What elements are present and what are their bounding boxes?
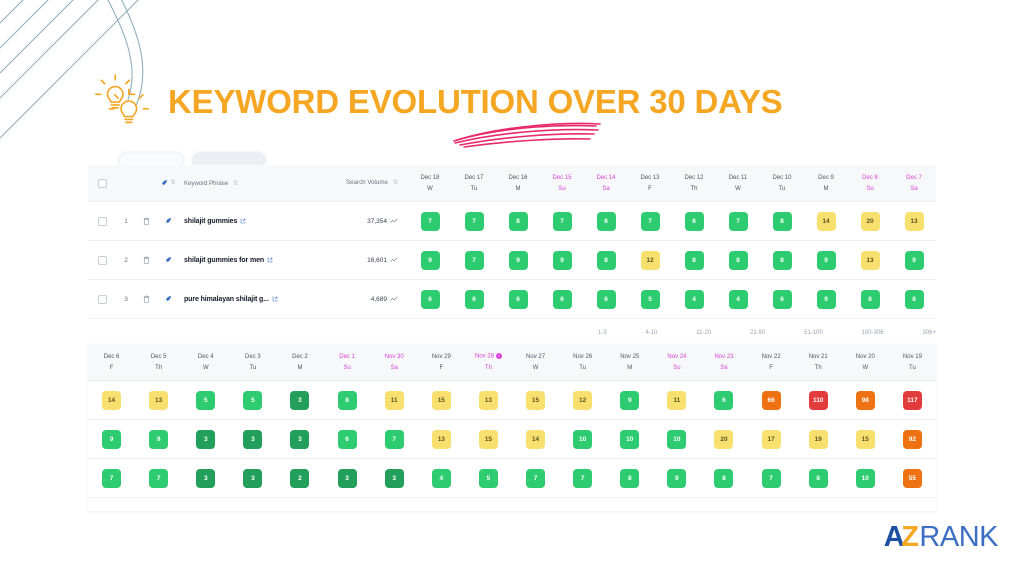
rank-value-badge: 7 [421,212,440,231]
heatmap-cell[interactable]: 8 [848,290,892,309]
rank-value-badge: 8 [509,212,528,231]
rank-value-badge: 10 [573,430,592,449]
trend-chart-icon[interactable] [390,296,398,302]
heatmap-cell[interactable]: 3 [229,430,276,449]
heatmap-cell[interactable]: 14 [88,391,135,410]
date-label: Dec 14 [596,175,615,181]
heatmap-cell[interactable]: 8 [700,469,747,488]
rank-value-badge: 13 [149,391,168,410]
table-row[interactable]: 3 pure himalayan shilajit g... 4,689 [88,280,408,319]
date-label: Dec 13 [640,175,659,181]
date-column-header: Nov 20W [842,344,889,380]
heatmap-cell[interactable]: 6 [324,430,371,449]
heatmap-cell[interactable]: 3 [229,469,276,488]
rank-value-badge: 12 [641,251,660,270]
heatmap-row: 77332334577898781055 [88,459,936,498]
rank-value-badge: 9 [149,430,168,449]
rank-value-badge: 9 [620,391,639,410]
row-number: 2 [116,257,136,264]
rank-value-badge: 4 [729,290,748,309]
date-column-header: Dec 3Tu [229,344,276,380]
rank-value-badge: 3 [243,430,262,449]
heatmap-cell[interactable]: 6 [452,290,496,309]
heatmap-cell[interactable]: 7 [135,469,182,488]
rank-value-badge: 11 [385,391,404,410]
date-column-header: Dec 17Tu [452,165,496,201]
day-of-week-label: F [648,186,652,192]
heatmap-cell[interactable]: 8 [324,391,371,410]
phrase-sort-icon[interactable]: ⇅ [233,180,238,187]
date-column-header: Dec 6F [88,344,135,380]
day-of-week-label: M [516,186,521,192]
rank-value-badge: 7 [385,430,404,449]
boost-icon[interactable] [156,256,180,264]
rank-value-badge: 9 [553,251,572,270]
heatmap-cell[interactable]: 3 [324,469,371,488]
heatmap-cell[interactable]: 13 [892,212,936,231]
heatmap-cell[interactable]: 5 [465,469,512,488]
rank-value-badge: 14 [526,430,545,449]
legend-item: 4-10 [645,330,657,336]
heatmap-cell[interactable]: 8 [760,212,804,231]
heatmap-cell[interactable]: 15 [842,430,889,449]
heatmap-cell[interactable]: 6 [540,290,584,309]
rank-value-badge: 10 [667,430,686,449]
date-column-header: Dec 12Th [672,165,716,201]
rank-value-badge: 9 [817,251,836,270]
rank-value-badge: 9 [817,290,836,309]
row-number: 1 [116,218,136,225]
heatmap-cell[interactable]: 11 [371,391,418,410]
day-of-week-label: Su [343,365,350,371]
rank-value-badge: 4 [432,469,451,488]
rank-value-badge: 110 [809,391,828,410]
lightbulb-icon [92,72,154,134]
day-of-week-label: Th [155,365,162,371]
rank-value-badge: 10 [856,469,875,488]
search-volume-cell: 37,354 [326,218,408,225]
heatmap-cell[interactable]: 8 [672,251,716,270]
heatmap-cell[interactable]: 9 [892,251,936,270]
day-of-week-label: Th [815,365,822,371]
keyword-phrase-text: pure himalayan shilajit g... [184,296,269,303]
search-volume-value: 4,689 [371,296,387,303]
rank-value-badge: 17 [762,430,781,449]
rank-value-badge: 15 [479,430,498,449]
heatmap-cell[interactable]: 9 [135,430,182,449]
rank-value-badge: 3 [290,391,309,410]
day-of-week-label: Su [673,365,680,371]
keyword-phrase-cell[interactable]: pure himalayan shilajit g... [180,296,326,303]
heatmap-cell[interactable]: 19 [795,430,842,449]
day-of-week-label: M [297,365,302,371]
date-column-header: Dec 9M [804,165,848,201]
day-of-week-label: Sa [910,186,917,192]
boost-icon[interactable] [156,295,180,303]
rank-value-badge: 9 [667,469,686,488]
trend-chart-icon[interactable] [390,257,398,263]
heatmap-cell[interactable]: 4 [418,469,465,488]
rank-value-badge: 3 [338,469,357,488]
day-of-week-label: Sa [720,365,727,371]
rank-value-badge: 7 [729,212,748,231]
rank-value-badge: 6 [509,290,528,309]
heatmap-cell[interactable]: 10 [842,469,889,488]
date-label: Nov 30 [385,354,404,360]
day-of-week-label: M [824,186,829,192]
rank-value-badge: 8 [620,469,639,488]
external-link-icon[interactable] [272,296,278,302]
row-checkbox[interactable] [88,256,116,265]
date-label: Nov 22 [762,354,781,360]
rank-value-badge: 7 [465,212,484,231]
title-block: KEYWORD EVOLUTION OVER 30 DAYS [92,68,782,134]
rank-value-badge: 3 [243,469,262,488]
heatmap-cell[interactable]: 13 [848,251,892,270]
rank-value-badge: 15 [432,391,451,410]
heatmap-cell[interactable]: 8 [496,212,540,231]
heatmap-row: 14135538111513151291166611098117 [88,381,936,420]
rank-value-badge: 11 [667,391,686,410]
date-label: Dec 9 [818,175,834,181]
heatmap-cell[interactable]: 6 [496,290,540,309]
heatmap-cell[interactable]: 13 [135,391,182,410]
heatmap-row: 97998128889139 [408,241,936,280]
heatmap-cell[interactable]: 11 [653,391,700,410]
rank-value-badge: 12 [573,391,592,410]
heatmap-cell[interactable]: 17 [748,430,795,449]
heatmap-row: 99333671315141010102017191592 [88,420,936,459]
heatmap-cell[interactable]: 12 [559,391,606,410]
heatmap-cell[interactable]: 14 [512,430,559,449]
heatmap-cell[interactable]: 9 [540,251,584,270]
heatmap-cell[interactable]: 13 [418,430,465,449]
date-label: Dec 5 [151,354,167,360]
date-label: Dec 8 [862,175,878,181]
date-column-header: Dec 1Su [324,344,371,380]
date-label: Dec 7 [906,175,922,181]
heatmap-cell[interactable]: 7 [371,430,418,449]
date-header-row: Dec 18WDec 17TuDec 16MDec 15SuDec 14SaDe… [408,165,936,202]
table-row[interactable]: 1 shilajit gummies 37,354 [88,202,408,241]
rank-value-badge: 13 [861,251,880,270]
date-label: Nov 23 [714,354,733,360]
day-of-week-label: W [735,186,741,192]
legend-item: 1-3 [598,330,607,336]
heatmap-cell[interactable]: 20 [848,212,892,231]
date-column-header: Nov 24Su [653,344,700,380]
rank-value-badge: 13 [905,212,924,231]
rank-value-badge: 9 [102,430,121,449]
rank-value-badge: 10 [620,430,639,449]
heatmap-cell[interactable]: 6 [700,391,747,410]
heatmap-cell[interactable]: 6 [408,290,452,309]
date-label: Dec 2 [292,354,308,360]
day-of-week-label: Th [690,186,697,192]
delete-icon[interactable] [136,256,156,264]
date-column-header: Dec 16M [496,165,540,201]
search-volume-cell: 16,601 [326,257,408,264]
date-label: Nov 25 [620,354,639,360]
date-label: Dec 15 [552,175,571,181]
heatmap-cell[interactable]: 8 [606,469,653,488]
rank-value-badge: 8 [861,290,880,309]
day-of-week-label: W [203,365,209,371]
search-volume-cell: 4,689 [326,296,408,303]
heatmap-cell[interactable]: 8 [716,251,760,270]
rank-value-badge: 13 [432,430,451,449]
day-of-week-label: W [862,365,868,371]
rank-value-badge: 6 [714,391,733,410]
rocket-icon [160,179,168,187]
rank-tracker-bottom-panel: Dec 6FDec 5ThDec 4WDec 3TuDec 2MDec 1SuN… [88,344,936,511]
rank-value-badge: 6 [597,212,616,231]
heatmap-cell[interactable]: 7 [512,469,559,488]
date-column-header: Dec 8Su [848,165,892,201]
rocket-column-header: ⇅ [156,179,180,187]
date-column-header: Nov 19Tu [889,344,936,380]
trend-chart-icon[interactable] [390,218,398,224]
heatmap-cell[interactable]: 8 [795,469,842,488]
rocket-sort-icon[interactable]: ⇅ [170,179,175,187]
heatmap-cell[interactable]: 7 [559,469,606,488]
heatmap-cell[interactable]: 98 [842,391,889,410]
heatmap-cell[interactable]: 9 [88,430,135,449]
rank-value-badge: 2 [290,469,309,488]
row-number: 3 [116,296,136,303]
rank-value-badge: 14 [817,212,836,231]
date-column-header: Nov 27W [512,344,559,380]
rank-value-badge: 3 [196,430,215,449]
rank-value-badge: 8 [729,251,748,270]
legend-item: 11-20 [696,330,711,336]
rank-value-badge: 7 [526,469,545,488]
date-label: Nov 27 [526,354,545,360]
search-volume-value: 37,354 [367,218,387,225]
heatmap-cell[interactable]: 4 [672,290,716,309]
heatmap-cell[interactable]: 7 [748,469,795,488]
logo-letter-z: Z [901,521,918,554]
rank-value-badge: 6 [465,290,484,309]
day-of-week-label: F [769,365,773,371]
heatmap-cell[interactable]: 7 [88,469,135,488]
rank-value-badge: 14 [102,391,121,410]
heatmap-cell[interactable]: 15 [465,430,512,449]
rank-value-badge: 66 [762,391,781,410]
azrank-logo: AZRANK [884,521,998,554]
heatmap-cell[interactable]: 3 [182,469,229,488]
keyword-phrase-cell[interactable]: shilajit gummies for men [180,257,326,264]
heatmap-cell[interactable]: 7 [452,212,496,231]
rank-value-badge: 5 [196,391,215,410]
heatmap-cell[interactable]: 55 [889,469,936,488]
heatmap-cell[interactable]: 8 [584,251,628,270]
volume-sort-icon[interactable]: ⇅ [393,179,398,187]
rank-value-badge: 8 [809,469,828,488]
heatmap-cell[interactable]: 9 [496,251,540,270]
heatmap-cell[interactable]: 14 [804,212,848,231]
date-label: Nov 21 [809,354,828,360]
heatmap-cell[interactable]: 13 [465,391,512,410]
heatmap-cell[interactable]: 2 [276,469,323,488]
rank-value-badge: 15 [526,391,545,410]
heatmap-cell[interactable]: 5 [229,391,276,410]
day-of-week-label: Tu [579,365,586,371]
slide-canvas: KEYWORD EVOLUTION OVER 30 DAYS [0,0,1024,576]
delete-icon[interactable] [136,217,156,225]
external-link-icon[interactable] [267,257,273,263]
heatmap-cell[interactable]: 20 [700,430,747,449]
date-column-header: Dec 14Sa [584,165,628,201]
heatmap-cell[interactable]: 7 [628,212,672,231]
rank-value-badge: 98 [856,391,875,410]
date-column-header: Nov 21Th [795,344,842,380]
heatmap-cell[interactable]: 9 [606,391,653,410]
rank-value-badge: 8 [773,212,792,231]
day-of-week-label: Su [558,186,565,192]
delete-icon[interactable] [136,295,156,303]
heatmap-cell[interactable]: 110 [795,391,842,410]
date-column-header: Dec 2M [276,344,323,380]
rank-value-badge: 8 [714,469,733,488]
heatmap-cell[interactable]: 3 [276,430,323,449]
day-of-week-label: M [627,365,632,371]
heatmap-cell[interactable]: 9 [804,290,848,309]
rank-value-badge: 19 [809,430,828,449]
rank-value-badge: 6 [421,290,440,309]
heatmap-cell[interactable]: 117 [889,391,936,410]
date-column-header: Nov 29F [418,344,465,380]
date-column-header: Nov 30Sa [371,344,418,380]
rank-value-badge: 9 [509,251,528,270]
date-header-row: Dec 6FDec 5ThDec 4WDec 3TuDec 2MDec 1SuN… [88,344,936,381]
holiday-badge-icon[interactable]: ! [496,353,502,359]
legend-item: 100-306 [862,330,884,336]
date-column-header: Nov 22F [748,344,795,380]
legend-item: 306+ [922,330,936,336]
row-checkbox[interactable] [88,217,116,226]
heatmap-cell[interactable]: 8 [892,290,936,309]
date-label: Dec 3 [245,354,261,360]
rank-value-badge: 7 [553,212,572,231]
rank-value-badge: 3 [385,469,404,488]
day-of-week-label: Su [866,186,873,192]
heatmap-cell[interactable]: 15 [418,391,465,410]
search-volume-column-header[interactable]: Search Volume ⇅ [326,179,408,187]
rank-value-badge: 6 [338,430,357,449]
rank-value-badge: 7 [465,251,484,270]
heatmap-cell[interactable]: 7 [452,251,496,270]
rank-value-badge: 13 [479,391,498,410]
heatmap-cell[interactable]: 5 [628,290,672,309]
heatmap-cell[interactable]: 66 [748,391,795,410]
date-column-header: Nov 28!Th [465,344,512,380]
heatmap-cell[interactable]: 10 [653,430,700,449]
day-of-week-label: Sa [391,365,398,371]
rank-legend: 1-34-1011-2021-5051-100100-306306+ [598,330,936,336]
heatmap-cell[interactable]: 7 [540,212,584,231]
rank-heatmap-top: Dec 18WDec 17TuDec 16MDec 15SuDec 14SaDe… [408,165,936,319]
heatmap-cell[interactable]: 3 [182,430,229,449]
date-column-header: Nov 26Tu [559,344,606,380]
day-of-week-label: F [110,365,114,371]
page-title: KEYWORD EVOLUTION OVER 30 DAYS [168,85,782,118]
logo-text-rank: RANK [919,521,998,554]
rank-value-badge: 8 [597,251,616,270]
rank-value-badge: 8 [685,251,704,270]
date-label: Nov 26 [573,354,592,360]
rank-value-badge: 9 [905,251,924,270]
rank-value-badge: 3 [290,430,309,449]
heatmap-cell[interactable]: 9 [804,251,848,270]
keyword-table-header: ⇅ Keyword Phrase ⇅ Search Volume ⇅ [88,165,408,202]
heatmap-cell[interactable]: 3 [276,391,323,410]
heatmap-cell[interactable]: 9 [408,251,452,270]
day-of-week-label: Tu [471,186,478,192]
date-column-header: Nov 23Sa [700,344,747,380]
heatmap-cell[interactable]: 10 [606,430,653,449]
external-link-icon[interactable] [240,218,246,224]
heatmap-cell[interactable]: 9 [653,469,700,488]
heatmap-cell[interactable]: 3 [371,469,418,488]
date-label: Dec 11 [729,175,748,181]
heatmap-cell[interactable]: 4 [716,290,760,309]
rank-value-badge: 5 [243,391,262,410]
heatmap-cell[interactable]: 6 [584,212,628,231]
keyword-phrase-column-header[interactable]: Keyword Phrase ⇅ [180,180,326,187]
date-column-header: Dec 5Th [135,344,182,380]
heatmap-cell[interactable]: 7 [716,212,760,231]
heatmap-cell[interactable]: 6 [672,212,716,231]
rank-value-badge: 7 [102,469,121,488]
legend-item: 51-100 [804,330,823,336]
rank-value-badge: 8 [338,391,357,410]
heatmap-cell[interactable]: 15 [512,391,559,410]
keyword-table: ⇅ Keyword Phrase ⇅ Search Volume ⇅ 1 [88,165,409,319]
heatmap-cell[interactable]: 8 [760,251,804,270]
heatmap-cell[interactable]: 6 [584,290,628,309]
keyword-phrase-cell[interactable]: shilajit gummies [180,218,326,225]
rank-value-badge: 117 [903,391,922,410]
heatmap-cell[interactable]: 92 [889,430,936,449]
date-label: Dec 6 [104,354,120,360]
heatmap-cell[interactable]: 7 [408,212,452,231]
rank-value-badge: 5 [479,469,498,488]
boost-icon[interactable] [156,217,180,225]
day-of-week-label: Tu [249,365,256,371]
select-all-checkbox[interactable] [88,179,116,188]
heatmap-cell[interactable]: 6 [760,290,804,309]
rank-value-badge: 8 [773,251,792,270]
date-column-header: Dec 18W [408,165,452,201]
rank-value-badge: 6 [553,290,572,309]
day-of-week-label: F [439,365,443,371]
heatmap-cell[interactable]: 12 [628,251,672,270]
rank-tracker-top-panel: ⇅ Keyword Phrase ⇅ Search Volume ⇅ 1 [88,152,936,317]
rank-value-badge: 7 [573,469,592,488]
row-checkbox[interactable] [88,295,116,304]
table-row[interactable]: 2 shilajit gummies for men 16,601 [88,241,408,280]
heatmap-cell[interactable]: 10 [559,430,606,449]
rank-value-badge: 6 [773,290,792,309]
heatmap-cell[interactable]: 5 [182,391,229,410]
heatmap-row: 778767678142013 [408,202,936,241]
rank-value-badge: 7 [641,212,660,231]
rank-value-badge: 20 [861,212,880,231]
date-label: Nov 19 [903,354,922,360]
rank-value-badge: 5 [641,290,660,309]
rank-value-badge: 15 [856,430,875,449]
